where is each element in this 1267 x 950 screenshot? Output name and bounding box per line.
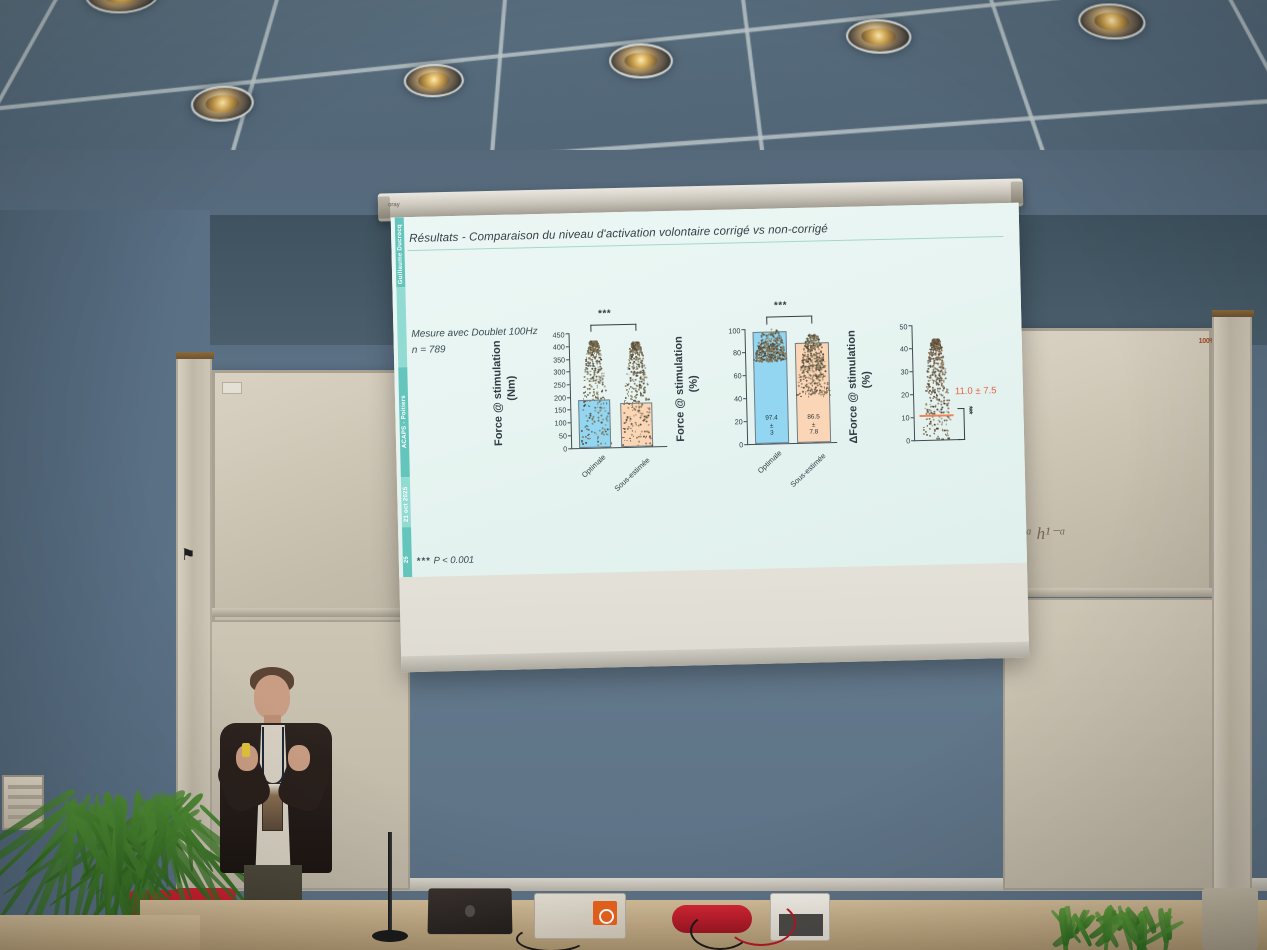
panel3-scatter-cloud xyxy=(920,338,952,439)
presenter-clicker xyxy=(242,743,250,757)
scatter-point xyxy=(634,400,636,402)
scatter-point xyxy=(815,378,817,380)
board-rail xyxy=(206,608,410,617)
scatter-point xyxy=(634,348,636,350)
scatter-point xyxy=(594,368,596,370)
scatter-point xyxy=(763,346,765,348)
scatter-point xyxy=(772,340,774,342)
panel1-scatter-sous-estimee xyxy=(619,341,653,446)
scatter-point xyxy=(948,402,950,404)
scatter-point xyxy=(599,362,601,364)
scatter-point xyxy=(820,374,822,376)
scatter-point xyxy=(648,424,650,426)
scatter-point xyxy=(638,401,640,403)
scatter-point xyxy=(596,342,598,344)
scatter-point xyxy=(934,362,936,364)
scatter-point xyxy=(587,368,589,370)
scatter-point xyxy=(941,380,943,382)
scatter-point xyxy=(636,391,638,393)
scatter-point xyxy=(598,417,600,419)
panel1-xtick-sous-estimee: Sous-estimée xyxy=(597,456,651,508)
scatter-point xyxy=(923,433,925,435)
laptop-dark[interactable] xyxy=(424,888,516,940)
scatter-point xyxy=(635,423,637,425)
scatter-point xyxy=(650,420,652,422)
scatter-point xyxy=(645,442,647,444)
scatter-point xyxy=(603,402,605,404)
projection-screen: Guillaume Ducrocq ACAPS - Poitiers 21 oc… xyxy=(391,203,1030,673)
chart-panel-group: Force @ stimulation (Nm) 0 50 100 xyxy=(488,311,1013,523)
panel2-ylabel-unit: (%) xyxy=(687,364,700,402)
scatter-point xyxy=(649,442,651,444)
scatter-point xyxy=(595,356,597,358)
panel2-value-optimale: 97.4 ± 3 xyxy=(755,415,788,437)
scatter-point xyxy=(600,415,602,417)
panel1-ylabel: Force @ stimulation xyxy=(490,327,505,459)
scatter-point xyxy=(628,373,630,375)
scatter-point xyxy=(581,430,583,432)
scatter-point xyxy=(927,362,929,364)
scatter-point xyxy=(928,384,930,386)
scatter-point xyxy=(602,379,604,381)
presentation-slide: Guillaume Ducrocq ACAPS - Poitiers 21 oc… xyxy=(391,203,1027,578)
scatter-point xyxy=(802,378,804,380)
chair-right xyxy=(1202,888,1258,950)
scatter-point xyxy=(761,333,763,335)
whiteboard-right xyxy=(1007,328,1212,592)
scatter-point xyxy=(765,350,767,352)
scatter-point xyxy=(643,364,645,366)
scatter-point xyxy=(928,377,930,379)
scatter-point xyxy=(591,431,593,433)
scatter-point xyxy=(643,380,645,382)
scatter-point xyxy=(941,409,943,411)
scatter-point xyxy=(582,443,584,445)
chart-panel-force-pct: Force @ stimulation (%) 0 20 40 xyxy=(670,315,850,519)
scatter-point xyxy=(813,379,815,381)
panel1-xtick-optimale: Optimale xyxy=(559,453,607,499)
scatter-point xyxy=(829,394,831,396)
scatter-point xyxy=(939,356,941,358)
chart-panel-delta-force: ΔForce @ stimulation (%) 0 10 20 xyxy=(845,311,1010,515)
scatter-point xyxy=(811,342,813,344)
scatter-point xyxy=(608,434,610,436)
scatter-point xyxy=(633,367,635,369)
panel1-ylabel-unit: (Nm) xyxy=(505,363,518,413)
scatter-point xyxy=(947,435,949,437)
scatter-point xyxy=(586,420,588,422)
scatter-point xyxy=(929,435,931,437)
scatter-point xyxy=(948,411,950,413)
scatter-point xyxy=(814,393,816,395)
scatter-point xyxy=(589,417,591,419)
scatter-point xyxy=(641,405,643,407)
scatter-point xyxy=(940,418,942,420)
scatter-point xyxy=(931,344,933,346)
scatter-point xyxy=(634,379,636,381)
scatter-point xyxy=(801,383,803,385)
scatter-point xyxy=(641,431,643,433)
scatter-point xyxy=(926,411,928,413)
scatter-point xyxy=(936,358,938,360)
scatter-point xyxy=(601,432,603,434)
scatter-point xyxy=(640,436,642,438)
scatter-point xyxy=(593,370,595,372)
scatter-point xyxy=(627,428,629,430)
scatter-point xyxy=(588,347,590,349)
panel2-plot: 0 20 40 60 80 100 97.4 xyxy=(720,327,841,446)
presenter-head xyxy=(254,675,290,719)
panel1-significance-stars: *** xyxy=(598,308,611,319)
scatter-point xyxy=(827,383,829,385)
presenter-right-hand xyxy=(288,745,310,771)
scatter-point xyxy=(624,422,626,424)
scatter-point xyxy=(803,387,805,389)
scatter-point xyxy=(809,374,811,376)
board-rail xyxy=(1003,588,1215,597)
scatter-point xyxy=(932,405,934,407)
scatter-point xyxy=(946,419,948,421)
scatter-point xyxy=(627,407,629,409)
scatter-point xyxy=(638,436,640,438)
panel2-xtick-sous-estimee: Sous-estimée xyxy=(773,451,827,503)
panel2-ylabel: Force @ stimulation xyxy=(672,323,687,455)
panel2-xtick-optimale: Optimale xyxy=(735,448,783,494)
scatter-point xyxy=(641,414,643,416)
scatter-point xyxy=(642,413,644,415)
scatter-point xyxy=(597,403,599,405)
scatter-point xyxy=(636,349,638,351)
slide-sidebar-author: Guillaume Ducrocq xyxy=(395,219,406,289)
scatter-point xyxy=(943,396,945,398)
scatter-point xyxy=(641,363,643,365)
scatter-point xyxy=(829,390,831,392)
scatter-point xyxy=(597,441,599,443)
scatter-point xyxy=(635,414,637,416)
scatter-point xyxy=(932,358,934,360)
scatter-point xyxy=(805,384,807,386)
scatter-point xyxy=(642,379,644,381)
scatter-point xyxy=(631,434,633,436)
scatter-point xyxy=(605,390,607,392)
scatter-point xyxy=(628,388,630,390)
scatter-point xyxy=(591,386,593,388)
scatter-point xyxy=(818,348,820,350)
scatter-point xyxy=(630,380,632,382)
scatter-point xyxy=(937,403,939,405)
panel1-significance-bracket xyxy=(590,324,636,332)
potted-plant-right xyxy=(1060,905,1170,950)
scatter-point xyxy=(643,420,645,422)
scatter-point xyxy=(937,428,939,430)
scatter-point xyxy=(816,355,818,357)
scatter-point xyxy=(584,376,586,378)
scatter-point xyxy=(775,333,777,335)
slide-sidebar-date: 21 oct 2025 xyxy=(401,479,411,529)
scatter-point xyxy=(813,365,815,367)
scatter-point xyxy=(760,344,762,346)
scatter-point xyxy=(940,369,942,371)
scatter-point xyxy=(931,392,933,394)
black-cable xyxy=(516,926,586,950)
board-decal: ⚑ xyxy=(181,545,207,571)
scatter-point xyxy=(785,355,787,357)
scatter-point xyxy=(821,347,823,349)
scatter-point xyxy=(584,395,586,397)
scatter-point xyxy=(807,346,809,348)
scatter-point xyxy=(817,368,819,370)
scatter-point xyxy=(595,346,597,348)
scatter-point xyxy=(602,418,604,420)
scatter-point xyxy=(611,442,613,444)
scatter-point xyxy=(624,403,626,405)
scatter-point xyxy=(935,374,937,376)
board-frame-column-right xyxy=(1212,316,1252,896)
slide-sidebar-event: ACAPS - Poitiers xyxy=(398,369,409,474)
scatter-point xyxy=(811,385,813,387)
scatter-point xyxy=(947,408,949,410)
lecture-room-photo: ⚑ 100% kᵅ h¹⁻ᵅ oray Guillaume Ducrocq AC… xyxy=(0,0,1267,950)
scatter-point xyxy=(638,380,640,382)
scatter-point xyxy=(624,437,626,439)
scatter-point xyxy=(784,352,786,354)
scatter-point xyxy=(939,373,941,375)
scatter-point xyxy=(809,350,811,352)
scatter-point xyxy=(639,417,641,419)
scatter-point xyxy=(937,423,939,425)
scatter-point xyxy=(801,372,803,374)
scatter-point xyxy=(632,343,634,345)
scatter-point xyxy=(604,386,606,388)
scatter-point xyxy=(586,367,588,369)
scatter-point xyxy=(592,415,594,417)
scatter-point xyxy=(927,388,929,390)
scatter-point xyxy=(926,418,928,420)
scatter-point xyxy=(599,410,601,412)
scatter-point xyxy=(586,378,588,380)
scatter-point xyxy=(601,407,603,409)
scatter-point xyxy=(768,338,770,340)
scatter-point xyxy=(648,415,650,417)
scatter-point xyxy=(821,379,823,381)
scatter-point xyxy=(596,393,598,395)
scatter-point xyxy=(642,366,644,368)
scatter-point xyxy=(632,402,634,404)
scatter-point xyxy=(607,420,609,422)
scatter-point xyxy=(925,390,927,392)
scatter-point xyxy=(642,395,644,397)
scatter-point xyxy=(815,357,817,359)
scatter-point xyxy=(635,356,637,358)
scatter-point xyxy=(815,354,817,356)
scatter-point xyxy=(816,336,818,338)
scatter-point xyxy=(645,399,647,401)
panel1-scatter-optimale xyxy=(577,340,611,445)
scatter-point xyxy=(766,357,768,359)
scatter-point xyxy=(583,401,585,403)
scatter-point xyxy=(629,420,631,422)
scatter-point xyxy=(630,398,632,400)
scatter-point xyxy=(942,389,944,391)
scatter-point xyxy=(824,366,826,368)
scatter-point xyxy=(592,395,594,397)
scatter-point xyxy=(602,431,604,433)
scatter-point xyxy=(626,402,628,404)
scatter-point xyxy=(646,420,648,422)
scatter-point xyxy=(644,367,646,369)
scatter-point xyxy=(597,349,599,351)
scatter-point xyxy=(937,339,939,341)
scatter-point xyxy=(774,354,776,356)
scatter-point xyxy=(601,389,603,391)
scatter-point xyxy=(824,370,826,372)
scatter-point xyxy=(592,359,594,361)
ceiling-downlight xyxy=(609,44,673,79)
board-cap-right xyxy=(1212,310,1254,317)
scatter-point xyxy=(937,347,939,349)
scatter-point xyxy=(944,377,946,379)
scatter-point xyxy=(808,363,810,365)
scatter-point xyxy=(596,397,598,399)
scatter-point xyxy=(624,428,626,430)
scatter-point xyxy=(943,381,945,383)
scatter-point xyxy=(934,392,936,394)
scatter-point xyxy=(934,389,936,391)
panel3-ylabel-unit: (%) xyxy=(860,360,873,398)
scatter-point xyxy=(589,400,591,402)
scatter-point xyxy=(819,377,821,379)
scatter-point xyxy=(630,386,632,388)
panel2-value-sous-estimee: 86.5 ± 7.8 xyxy=(797,414,830,436)
scatter-point xyxy=(592,341,594,343)
scatter-point xyxy=(800,380,802,382)
scatter-point xyxy=(938,391,940,393)
scatter-point xyxy=(590,374,592,376)
panel3-mean-label: 11.0 ± 7.5 xyxy=(955,385,997,397)
scatter-point xyxy=(633,382,635,384)
scatter-point xyxy=(597,406,599,408)
scatter-point xyxy=(587,365,589,367)
scatter-point xyxy=(939,421,941,423)
scatter-point xyxy=(776,346,778,348)
scatter-point xyxy=(594,382,596,384)
scatter-point xyxy=(934,344,936,346)
panel3-ylabel: ΔForce @ stimulation xyxy=(845,318,860,454)
scatter-point xyxy=(624,412,626,414)
scatter-point xyxy=(593,388,595,390)
scatter-point xyxy=(589,415,591,417)
scatter-point xyxy=(632,435,634,437)
scatter-point xyxy=(945,391,947,393)
scatter-point xyxy=(599,353,601,355)
scatter-point xyxy=(944,411,946,413)
scatter-point xyxy=(640,387,642,389)
scatter-point xyxy=(589,392,591,394)
scatter-point xyxy=(588,357,590,359)
slide-footer: *** P < 0.001 xyxy=(417,555,475,567)
scatter-point xyxy=(589,388,591,390)
scatter-point xyxy=(607,428,609,430)
scatter-point xyxy=(597,411,599,413)
scatter-point xyxy=(627,391,629,393)
panel2-significance-stars: *** xyxy=(774,300,787,311)
scatter-point xyxy=(811,389,813,391)
scatter-point xyxy=(760,357,762,359)
scatter-point xyxy=(605,431,607,433)
scatter-point xyxy=(816,390,818,392)
scatter-point xyxy=(929,423,931,425)
scatter-point xyxy=(802,367,804,369)
footer-stars: *** xyxy=(417,556,431,567)
scatter-point xyxy=(583,405,585,407)
scatter-point xyxy=(605,443,607,445)
scatter-point xyxy=(640,423,642,425)
scatter-point xyxy=(588,406,590,408)
board-clip xyxy=(222,382,242,394)
scatter-point xyxy=(631,391,633,393)
scatter-point xyxy=(586,400,588,402)
scatter-point xyxy=(586,415,588,417)
scatter-point xyxy=(644,391,646,393)
scatter-point xyxy=(593,391,595,393)
scatter-point xyxy=(779,343,781,345)
scatter-point xyxy=(626,440,628,442)
scatter-point xyxy=(935,371,937,373)
scatter-point xyxy=(603,434,605,436)
scatter-point xyxy=(594,372,596,374)
scatter-point xyxy=(638,441,640,443)
scatter-point xyxy=(636,394,638,396)
scatter-point xyxy=(805,359,807,361)
scatter-point xyxy=(600,443,602,445)
scatter-point xyxy=(821,391,823,393)
scatter-point xyxy=(780,354,782,356)
scatter-point xyxy=(594,410,596,412)
scatter-point xyxy=(930,421,932,423)
scatter-point xyxy=(594,406,596,408)
scatter-point xyxy=(936,399,938,401)
scatter-point xyxy=(774,345,776,347)
scatter-point xyxy=(633,371,635,373)
scatter-point xyxy=(589,383,591,385)
scatter-point xyxy=(929,386,931,388)
scatter-point xyxy=(606,402,608,404)
scatter-point xyxy=(651,444,653,446)
scatter-point xyxy=(936,382,938,384)
scatter-point xyxy=(631,396,633,398)
scatter-point xyxy=(629,353,631,355)
scatter-point xyxy=(624,431,626,433)
scatter-point xyxy=(943,420,945,422)
scatter-point xyxy=(587,394,589,396)
scatter-point xyxy=(927,370,929,372)
scatter-point xyxy=(929,418,931,420)
scatter-point xyxy=(934,424,936,426)
scatter-point xyxy=(631,371,633,373)
scatter-point xyxy=(628,403,630,405)
scatter-point xyxy=(630,358,632,360)
scatter-point xyxy=(810,354,812,356)
scatter-point xyxy=(824,382,826,384)
scatter-point xyxy=(647,431,649,433)
scatter-point xyxy=(810,383,812,385)
scatter-point xyxy=(622,444,624,446)
scatter-point xyxy=(923,427,925,429)
scatter-point xyxy=(802,391,804,393)
scatter-point xyxy=(645,376,647,378)
scatter-point xyxy=(777,332,779,334)
scatter-point xyxy=(628,383,630,385)
